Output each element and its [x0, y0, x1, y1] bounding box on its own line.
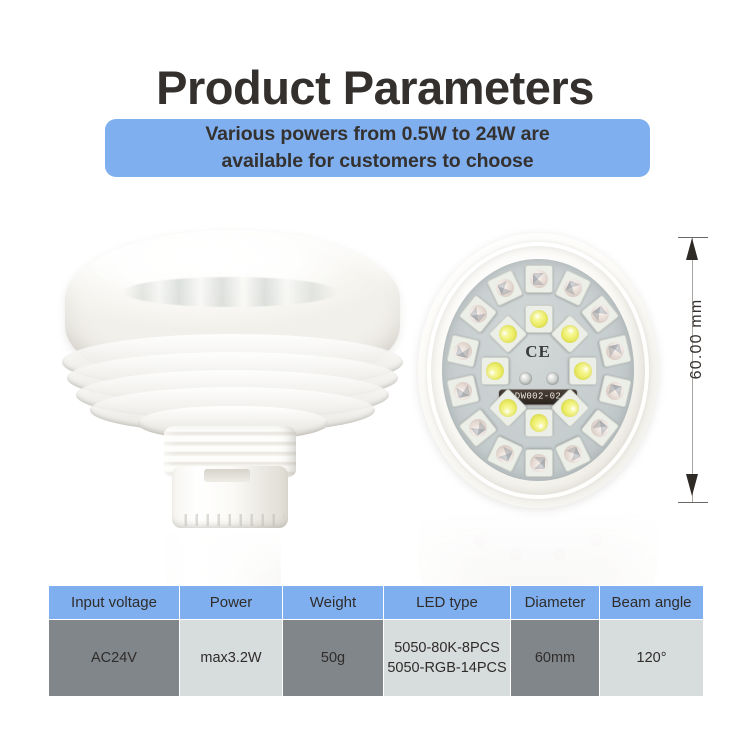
table-cell-input-voltage: AC24V: [49, 620, 180, 697]
white-led: [569, 357, 597, 385]
lamp-face-view-photo: CE DW002-02: [418, 233, 658, 508]
rgb-led: [598, 334, 632, 368]
dimension-arrow-down-icon: [686, 474, 698, 496]
rgb-led: [458, 294, 497, 333]
led-chip: [465, 301, 490, 326]
led-type-line-2: 5050-RGB-14PCS: [386, 658, 508, 678]
dimension-annotation: 60.00 mm: [668, 232, 728, 507]
base-grip-ridges: [176, 514, 284, 526]
rgb-led: [446, 334, 480, 368]
dimension-arrow-up-icon: [686, 238, 698, 260]
table-header-input-voltage: Input voltage: [49, 586, 180, 620]
subtitle-banner: Various powers from 0.5W to 24W are avai…: [105, 119, 650, 177]
rgb-led: [554, 269, 591, 306]
led-pcb: CE DW002-02: [442, 259, 634, 481]
led-chip: [465, 416, 490, 441]
white-led: [481, 357, 509, 385]
pcb-screw-left: [519, 372, 532, 385]
table-header-beam-angle: Beam angle: [600, 586, 704, 620]
led-chip: [452, 340, 474, 362]
table-cell-power: max3.2W: [180, 620, 283, 697]
subtitle-text: Various powers from 0.5W to 24W are avai…: [205, 121, 549, 175]
led-chip: [452, 381, 474, 403]
white-led: [488, 314, 528, 354]
rgb-led: [486, 435, 523, 472]
table-header-weight: Weight: [283, 586, 384, 620]
led-chip: [604, 340, 626, 362]
led-chip: [530, 270, 548, 288]
product-image-stage: CE DW002-02: [0, 185, 750, 585]
lamp-base-connector: [172, 466, 288, 528]
subtitle-line-1: Various powers from 0.5W to 24W are: [205, 121, 549, 148]
dimension-label: 60.00 mm: [688, 264, 706, 414]
led-chip: [587, 416, 612, 441]
rgb-led: [525, 265, 553, 293]
table-row: AC24V max3.2W 50g 5050-80K-8PCS 5050-RGB…: [49, 620, 704, 697]
rgb-led: [598, 375, 632, 409]
rgb-led: [458, 409, 497, 448]
base-slot: [204, 469, 250, 482]
led-chip: [561, 442, 585, 466]
led-chip: [493, 442, 517, 466]
white-led: [550, 314, 590, 354]
led-chip: [530, 414, 548, 432]
led-chip: [495, 395, 520, 420]
table-cell-diameter: 60mm: [511, 620, 600, 697]
table-header-diameter: Diameter: [511, 586, 600, 620]
led-chip: [557, 321, 582, 346]
table-header-led-type: LED type: [384, 586, 511, 620]
white-led: [525, 305, 553, 333]
led-chip: [530, 454, 548, 472]
led-type-line-1: 5050-80K-8PCS: [386, 638, 508, 658]
led-chip: [561, 276, 585, 300]
specification-table: Input voltage Power Weight LED type Diam…: [48, 585, 704, 697]
table-cell-beam-angle: 120°: [600, 620, 704, 697]
subtitle-line-2: available for customers to choose: [205, 148, 549, 175]
rgb-led: [446, 375, 480, 409]
rgb-led: [486, 269, 523, 306]
led-chip: [493, 276, 517, 300]
table-header-row: Input voltage Power Weight LED type Diam…: [49, 586, 704, 620]
lamp-side-view-photo: [60, 230, 405, 530]
table-cell-led-type: 5050-80K-8PCS 5050-RGB-14PCS: [384, 620, 511, 697]
product-parameters-page: Product Parameters Various powers from 0…: [0, 0, 750, 750]
table-cell-weight: 50g: [283, 620, 384, 697]
led-chip: [530, 310, 548, 328]
led-chip: [574, 362, 592, 380]
white-led: [525, 409, 553, 437]
pcb-screw-right: [546, 372, 559, 385]
rgb-led: [525, 449, 553, 477]
dimension-tick-bottom: [678, 502, 708, 503]
page-title: Product Parameters: [0, 60, 750, 116]
led-chip: [495, 321, 520, 346]
table-header-power: Power: [180, 586, 283, 620]
led-chip: [604, 381, 626, 403]
dome-internal-leds: [123, 277, 338, 307]
led-chip: [557, 395, 582, 420]
ce-mark: CE: [525, 342, 551, 362]
lamp-face-reflection-leds: [448, 517, 628, 579]
led-chip: [587, 301, 612, 326]
led-chip: [486, 362, 504, 380]
